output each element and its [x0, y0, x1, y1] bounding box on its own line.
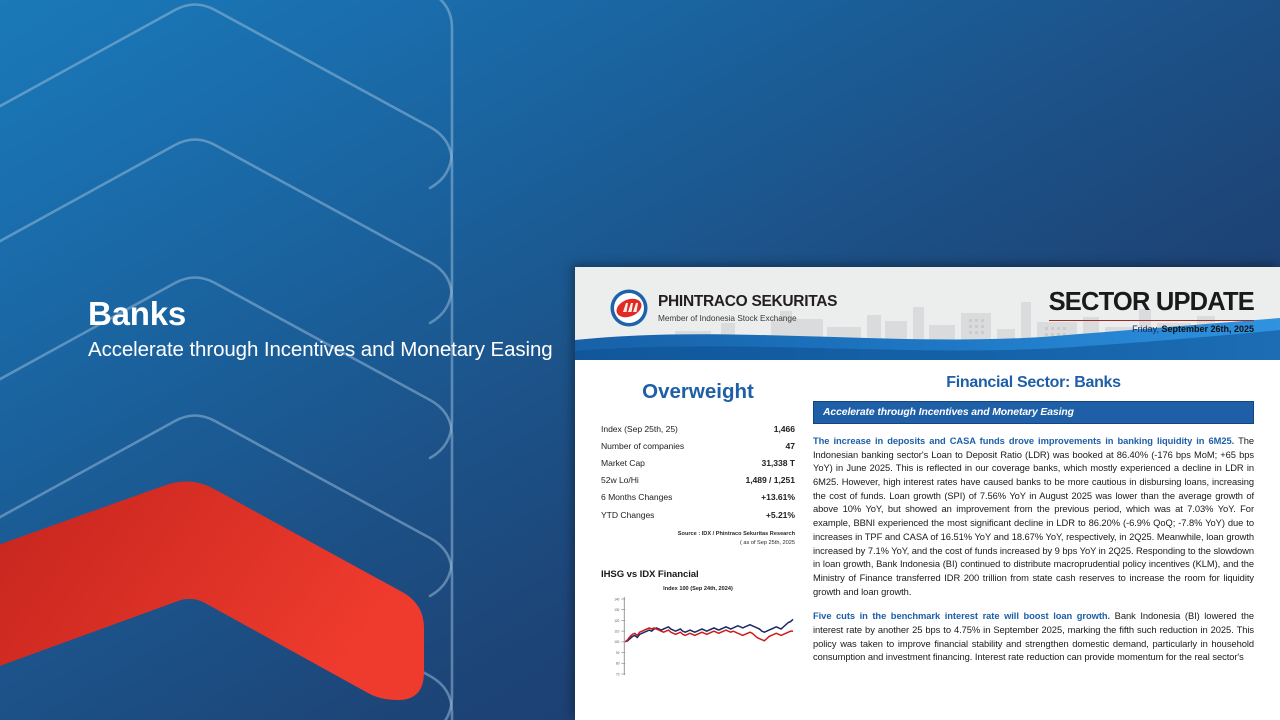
- ihsg-vs-idx-financial-chart: IHSG vs IDX Financial Index 100 (Sep 24t…: [601, 569, 795, 679]
- thesis-banner: Accelerate through Incentives and Moneta…: [813, 401, 1254, 424]
- header-rule: [1049, 320, 1254, 322]
- report-date-prefix: Friday,: [1132, 324, 1161, 334]
- svg-text:70: 70: [616, 672, 620, 676]
- paragraph-2-lead: Five cuts in the benchmark interest rate…: [813, 611, 1110, 621]
- report-date: Friday, September 26th, 2025: [1049, 324, 1254, 334]
- svg-text:90: 90: [616, 651, 620, 655]
- table-row: 52w Lo/Hi 1,489 / 1,251: [601, 472, 795, 489]
- chart-plot-area: 140130120110100908070: [601, 595, 795, 679]
- stat-label: Number of companies: [601, 437, 723, 454]
- report-kind-block: SECTOR UPDATE Friday, September 26th, 20…: [1049, 290, 1254, 334]
- source-line-1: Source : IDX / Phintraco Sekuritas Resea…: [678, 531, 795, 537]
- svg-text:80: 80: [616, 662, 620, 666]
- stat-label: YTD Changes: [601, 506, 723, 523]
- table-row: Index (Sep 25th, 25) 1,466: [601, 420, 795, 437]
- paragraph-2: Five cuts in the benchmark interest rate…: [813, 610, 1254, 665]
- table-row: Number of companies 47: [601, 437, 795, 454]
- source-line-2: ( as of Sep 25th, 2025: [740, 540, 795, 546]
- chart-title: IHSG vs IDX Financial: [601, 569, 795, 580]
- slide-title-block: Banks Accelerate through Incentives and …: [88, 296, 558, 363]
- svg-text:130: 130: [614, 608, 619, 612]
- phintraco-logo-icon: [609, 288, 649, 328]
- stat-value: +13.61%: [723, 489, 795, 506]
- svg-text:110: 110: [614, 629, 619, 633]
- stat-value: 1,489 / 1,251: [723, 472, 795, 489]
- svg-text:120: 120: [614, 619, 619, 623]
- svg-text:100: 100: [614, 640, 619, 644]
- rating-badge: Overweight: [601, 380, 795, 404]
- paragraph-1: The increase in deposits and CASA funds …: [813, 435, 1254, 599]
- stat-value: 31,338 T: [723, 454, 795, 471]
- table-source-note: Source : IDX / Phintraco Sekuritas Resea…: [601, 530, 795, 547]
- key-statistics-table: Index (Sep 25th, 25) 1,466 Number of com…: [601, 420, 795, 523]
- paragraph-1-body: The Indonesian banking sector's Loan to …: [813, 436, 1254, 597]
- stat-value: 47: [723, 437, 795, 454]
- report-document-preview[interactable]: PHINTRACO SEKURITAS Member of Indonesia …: [575, 267, 1280, 720]
- report-kind-title: SECTOR UPDATE: [1049, 290, 1254, 316]
- stat-label: 52w Lo/Hi: [601, 472, 723, 489]
- paragraph-1-lead: The increase in deposits and CASA funds …: [813, 436, 1234, 446]
- report-date-value: September 26th, 2025: [1161, 324, 1254, 334]
- page-subtitle: Accelerate through Incentives and Moneta…: [88, 336, 558, 363]
- stat-label: Market Cap: [601, 454, 723, 471]
- stat-label: Index (Sep 25th, 25): [601, 420, 723, 437]
- brand-tagline: Member of Indonesia Stock Exchange: [658, 314, 837, 322]
- document-body: Overweight Index (Sep 25th, 25) 1,466 Nu…: [575, 360, 1280, 720]
- chart-y-axis-ticks: 140130120110100908070: [614, 597, 625, 676]
- document-header: PHINTRACO SEKURITAS Member of Indonesia …: [575, 267, 1280, 360]
- red-chevron: [0, 481, 424, 720]
- stat-value: +5.21%: [723, 506, 795, 523]
- stat-table-body: Index (Sep 25th, 25) 1,466 Number of com…: [601, 420, 795, 523]
- sector-title: Financial Sector: Banks: [813, 374, 1254, 392]
- svg-text:140: 140: [614, 597, 619, 601]
- document-left-column: Overweight Index (Sep 25th, 25) 1,466 Nu…: [575, 374, 803, 720]
- stat-value: 1,466: [723, 420, 795, 437]
- table-row: Market Cap 31,338 T: [601, 454, 795, 471]
- document-right-column: Financial Sector: Banks Accelerate throu…: [803, 374, 1280, 720]
- brand-name: PHINTRACO SEKURITAS: [658, 294, 837, 310]
- page-title: Banks: [88, 296, 558, 333]
- stat-label: 6 Months Changes: [601, 489, 723, 506]
- table-row: 6 Months Changes +13.61%: [601, 489, 795, 506]
- chart-subtitle: Index 100 (Sep 24th, 2024): [601, 586, 795, 592]
- slide-background: Banks Accelerate through Incentives and …: [0, 0, 1280, 720]
- table-row: YTD Changes +5.21%: [601, 506, 795, 523]
- brand-lockup: PHINTRACO SEKURITAS Member of Indonesia …: [609, 288, 837, 328]
